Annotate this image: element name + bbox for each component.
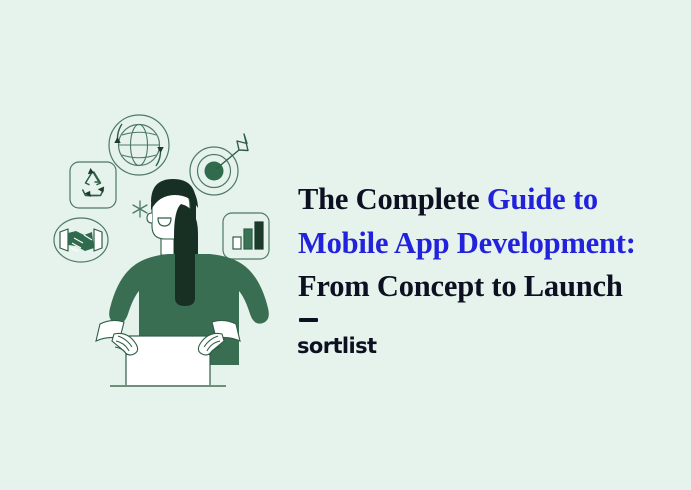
- woman-figure: [96, 179, 269, 386]
- headline: The Complete Guide to Mobile App Develop…: [298, 178, 690, 309]
- sparkle-asterisk-icon: [133, 201, 147, 217]
- brand-logo: sortlist: [297, 334, 376, 358]
- poster-canvas: The Complete Guide to Mobile App Develop…: [0, 0, 691, 490]
- illustration: [48, 96, 288, 392]
- white-skirt: [126, 336, 210, 386]
- headline-line-1: The Complete Guide to: [298, 178, 690, 222]
- headline-line-1-part-1: The Complete: [298, 182, 487, 216]
- headline-line-1-part-2: Guide to: [487, 182, 598, 216]
- globe-rotating-icon: [109, 115, 169, 175]
- headline-line-3: From Concept to Launch: [298, 265, 690, 309]
- recycle-icon: [70, 162, 116, 208]
- smile: [158, 218, 171, 226]
- dash-rule: [299, 318, 318, 322]
- headline-line-2: Mobile App Development:: [298, 222, 690, 266]
- handshake-icon: [54, 218, 108, 262]
- target-dart-icon: [190, 134, 248, 195]
- bar-chart-icon: [223, 213, 269, 259]
